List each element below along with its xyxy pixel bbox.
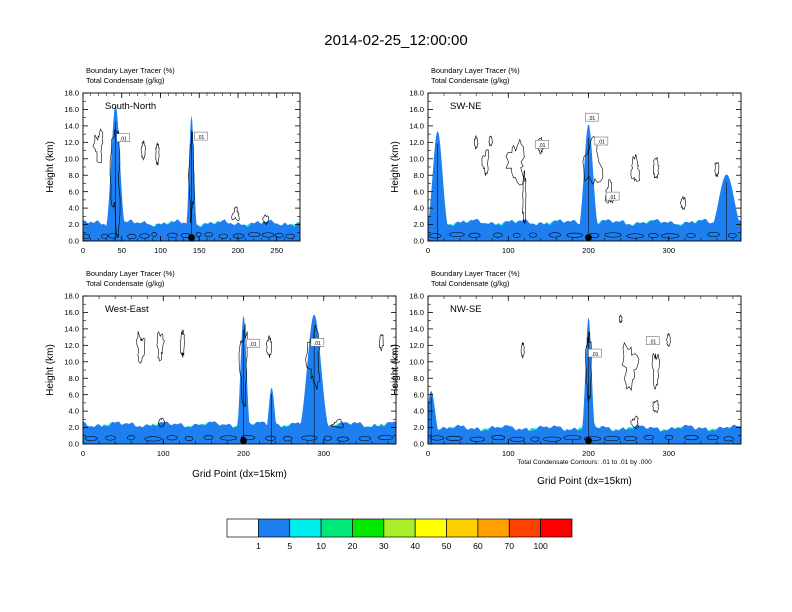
y-tick-label: 2.0 bbox=[413, 220, 424, 229]
plot-area: .01.01 bbox=[83, 296, 396, 444]
x-tick-label: 200 bbox=[232, 246, 245, 255]
y-tick-label: 0.0 bbox=[68, 440, 79, 449]
contour-label-text: .01 bbox=[588, 116, 595, 122]
panel-header-condensate: Total Condensate (g/kg) bbox=[86, 279, 164, 288]
contour-label-text: .01 bbox=[649, 339, 656, 345]
panel-label-south-north: South-North bbox=[105, 101, 156, 112]
y-tick-label: 6.0 bbox=[413, 187, 424, 196]
colorbar-cell-1 bbox=[258, 519, 289, 537]
x-tick-label: 250 bbox=[270, 246, 283, 255]
y-tick-label: 10.0 bbox=[64, 357, 79, 366]
figure-canvas: 2014-02-25_12:00:00Boundary Layer Tracer… bbox=[0, 0, 792, 612]
y-axis-title: Height (km) bbox=[390, 141, 401, 193]
x-tick-label: 0 bbox=[426, 246, 430, 255]
panel-header-tracer: Boundary Layer Tracer (%) bbox=[431, 66, 520, 75]
y-tick-label: 2.0 bbox=[68, 220, 79, 229]
contour-label-text: .01 bbox=[598, 140, 605, 146]
y-axis-title: Height (km) bbox=[390, 344, 401, 396]
x-tick-label: 200 bbox=[582, 449, 595, 458]
panel-header-tracer: Boundary Layer Tracer (%) bbox=[86, 66, 175, 75]
y-tick-label: 16.0 bbox=[64, 308, 79, 317]
y-tick-label: 0.0 bbox=[413, 440, 424, 449]
x-tick-label: 0 bbox=[81, 449, 85, 458]
plot-area: .01.01.01.01 bbox=[428, 93, 741, 241]
panel-header-tracer: Boundary Layer Tracer (%) bbox=[86, 269, 175, 278]
y-axis-title: Height (km) bbox=[45, 344, 56, 396]
panel-sw-ne: Boundary Layer Tracer (%)Total Condensat… bbox=[390, 66, 741, 255]
colorbar-tick-label: 1 bbox=[256, 541, 261, 551]
panel-label-west-east: West-East bbox=[105, 304, 149, 315]
x-tick-label: 200 bbox=[582, 246, 595, 255]
colorbar-tick-label: 60 bbox=[473, 541, 483, 551]
panel-header-condensate: Total Condensate (g/kg) bbox=[86, 76, 164, 85]
contour-label-text: .01 bbox=[538, 143, 545, 149]
cross-section-figure: 2014-02-25_12:00:00Boundary Layer Tracer… bbox=[0, 0, 792, 612]
contour-label-text: .01 bbox=[314, 341, 321, 347]
colorbar-cell-7 bbox=[447, 519, 478, 537]
colorbar-cell-4 bbox=[352, 519, 383, 537]
y-tick-label: 14.0 bbox=[409, 121, 424, 130]
y-tick-label: 10.0 bbox=[409, 357, 424, 366]
colorbar: 1510203040506070100 bbox=[227, 519, 572, 551]
contour-label-text: .01 bbox=[250, 342, 257, 348]
x-tick-label: 150 bbox=[193, 246, 206, 255]
x-tick-label: 300 bbox=[662, 246, 675, 255]
colorbar-cell-5 bbox=[384, 519, 415, 537]
panel-west-east: Boundary Layer Tracer (%)Total Condensat… bbox=[45, 269, 396, 458]
colorbar-tick-label: 5 bbox=[287, 541, 292, 551]
y-tick-label: 4.0 bbox=[68, 204, 79, 213]
panel-header-tracer: Boundary Layer Tracer (%) bbox=[431, 269, 520, 278]
y-tick-label: 8.0 bbox=[68, 171, 79, 180]
contour-label: .01 bbox=[535, 140, 548, 149]
y-tick-label: 4.0 bbox=[68, 407, 79, 416]
y-tick-label: 18.0 bbox=[409, 292, 424, 301]
x-tick-label: 200 bbox=[237, 449, 250, 458]
y-tick-label: 2.0 bbox=[68, 423, 79, 432]
x-axis-title-left: Grid Point (dx=15km) bbox=[192, 469, 287, 480]
y-tick-label: 4.0 bbox=[413, 204, 424, 213]
x-tick-label: 300 bbox=[662, 449, 675, 458]
colorbar-cell-8 bbox=[478, 519, 509, 537]
y-axis-title: Height (km) bbox=[45, 141, 56, 193]
y-tick-label: 2.0 bbox=[413, 423, 424, 432]
y-tick-label: 18.0 bbox=[64, 89, 79, 98]
y-tick-label: 8.0 bbox=[68, 374, 79, 383]
contour-label: .01 bbox=[194, 132, 207, 141]
y-tick-label: 0.0 bbox=[413, 237, 424, 246]
x-tick-label: 100 bbox=[157, 449, 170, 458]
y-tick-label: 4.0 bbox=[413, 407, 424, 416]
y-tick-label: 6.0 bbox=[413, 390, 424, 399]
panel-nw-se: Boundary Layer Tracer (%)Total Condensat… bbox=[390, 269, 741, 458]
colorbar-tick-label: 40 bbox=[410, 541, 420, 551]
colorbar-tick-label: 70 bbox=[504, 541, 514, 551]
x-tick-label: 50 bbox=[118, 246, 126, 255]
y-tick-label: 16.0 bbox=[409, 308, 424, 317]
y-tick-label: 6.0 bbox=[68, 390, 79, 399]
x-tick-label: 300 bbox=[317, 449, 330, 458]
x-tick-label: 100 bbox=[502, 449, 515, 458]
y-tick-label: 18.0 bbox=[409, 89, 424, 98]
contour-label-text: .01 bbox=[120, 136, 127, 142]
y-tick-label: 18.0 bbox=[64, 292, 79, 301]
panel-south-north: Boundary Layer Tracer (%)Total Condensat… bbox=[45, 66, 300, 255]
y-tick-label: 10.0 bbox=[64, 154, 79, 163]
contour-label: .01 bbox=[606, 192, 619, 201]
y-tick-label: 12.0 bbox=[409, 138, 424, 147]
colorbar-tick-label: 30 bbox=[379, 541, 389, 551]
plot-area: .01.01 bbox=[428, 296, 741, 444]
y-tick-label: 12.0 bbox=[64, 341, 79, 350]
contour-note: Total Condensate Contours: .01 to .01 by… bbox=[517, 459, 652, 466]
colorbar-tick-label: 10 bbox=[316, 541, 326, 551]
colorbar-cell-3 bbox=[321, 519, 352, 537]
x-tick-label: 0 bbox=[426, 449, 430, 458]
contour-label: .01 bbox=[588, 349, 601, 358]
contour-label: .01 bbox=[117, 134, 130, 143]
colorbar-cell-10 bbox=[541, 519, 572, 537]
panel-header-condensate: Total Condensate (g/kg) bbox=[431, 279, 509, 288]
colorbar-cell-9 bbox=[509, 519, 540, 537]
y-tick-label: 14.0 bbox=[409, 324, 424, 333]
figure-title: 2014-02-25_12:00:00 bbox=[324, 32, 467, 49]
y-tick-label: 14.0 bbox=[64, 324, 79, 333]
contour-label: .01 bbox=[585, 113, 598, 122]
x-axis-title-right: Grid Point (dx=15km) bbox=[537, 476, 632, 487]
colorbar-cell-6 bbox=[415, 519, 446, 537]
contour-label-text: .01 bbox=[591, 352, 598, 358]
y-tick-label: 16.0 bbox=[64, 105, 79, 114]
plot-area: .01.01 bbox=[83, 93, 300, 241]
y-tick-label: 16.0 bbox=[409, 105, 424, 114]
panel-label-nw-se: NW-SE bbox=[450, 304, 482, 315]
colorbar-tick-label: 20 bbox=[348, 541, 358, 551]
x-tick-label: 100 bbox=[154, 246, 167, 255]
x-tick-label: 100 bbox=[502, 246, 515, 255]
contour-label: .01 bbox=[595, 137, 608, 146]
contour-label: .01 bbox=[311, 338, 324, 347]
panel-header-condensate: Total Condensate (g/kg) bbox=[431, 76, 509, 85]
contour-label-text: .01 bbox=[197, 135, 204, 141]
y-tick-label: 14.0 bbox=[64, 121, 79, 130]
y-tick-label: 6.0 bbox=[68, 187, 79, 196]
y-tick-label: 8.0 bbox=[413, 171, 424, 180]
y-tick-label: 0.0 bbox=[68, 237, 79, 246]
x-tick-label: 0 bbox=[81, 246, 85, 255]
y-tick-label: 12.0 bbox=[409, 341, 424, 350]
colorbar-cell-0 bbox=[227, 519, 258, 537]
contour-label: .01 bbox=[646, 337, 659, 346]
colorbar-tick-label: 100 bbox=[533, 541, 548, 551]
colorbar-cell-2 bbox=[290, 519, 321, 537]
y-tick-label: 10.0 bbox=[409, 154, 424, 163]
contour-label-text: .01 bbox=[609, 195, 616, 201]
y-tick-label: 12.0 bbox=[64, 138, 79, 147]
colorbar-tick-label: 50 bbox=[442, 541, 452, 551]
panel-label-sw-ne: SW-NE bbox=[450, 101, 482, 112]
y-tick-label: 8.0 bbox=[413, 374, 424, 383]
contour-label: .01 bbox=[247, 339, 260, 348]
